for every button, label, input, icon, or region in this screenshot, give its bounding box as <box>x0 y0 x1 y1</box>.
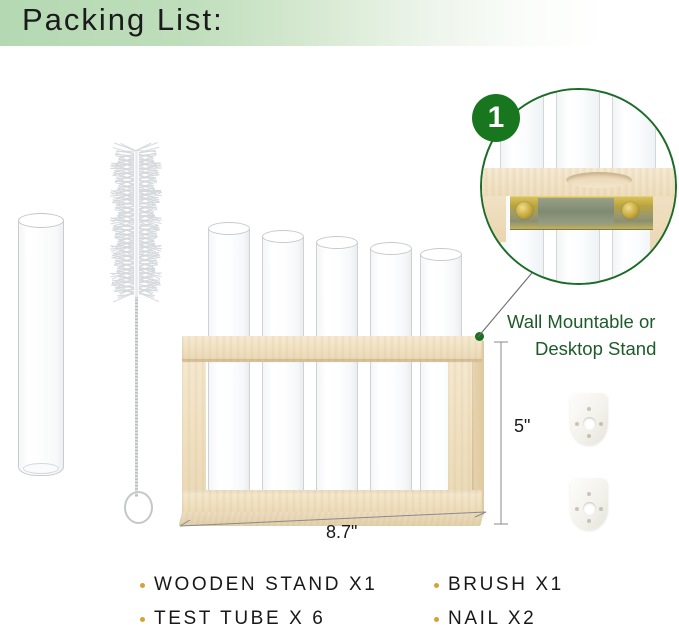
rack-tube-highlight <box>428 264 431 494</box>
mount-plate-notch <box>587 407 591 411</box>
mount-plate-notch <box>587 519 591 523</box>
rack-tube-highlight <box>378 258 381 494</box>
bullet-icon <box>140 583 145 588</box>
mount-plate-hole <box>583 502 596 515</box>
test-tube-base <box>23 463 59 474</box>
packing-list-infographic: Packing List: <box>0 0 679 642</box>
test-tube-body <box>18 219 64 476</box>
height-dimension-line <box>492 338 512 528</box>
list-item-label: WOODEN STAND X1 <box>154 574 377 596</box>
callout-wood-left <box>480 190 506 242</box>
mount-plate-notch <box>587 434 591 438</box>
rack-tube-rim <box>420 248 462 261</box>
list-item: NAIL X2 <box>434 608 536 630</box>
list-item-label: NAIL X2 <box>448 608 536 630</box>
rack-test-tube <box>316 242 358 509</box>
caption-line-1: Wall Mountable or <box>507 308 679 335</box>
page-title: Packing List: <box>22 2 224 38</box>
wall-mount-plate <box>570 478 608 530</box>
bullet-icon <box>434 617 439 622</box>
mount-plate-hole <box>583 417 596 430</box>
stand-top-rail-shadow <box>182 359 482 363</box>
mount-plate-notch <box>599 507 603 511</box>
rack-tube-highlight <box>216 238 219 494</box>
height-dimension-label: 5" <box>514 416 530 437</box>
stand-right-post <box>448 336 472 516</box>
callout-number-badge: 1 <box>472 94 520 142</box>
rack-tube-rim <box>208 222 250 235</box>
test-tube-rim <box>18 213 64 228</box>
list-item: BRUSH X1 <box>434 574 564 596</box>
rack-tube-highlight <box>270 246 273 494</box>
mount-plate-notch <box>587 492 591 496</box>
rack-test-tube <box>262 236 304 509</box>
rack-tube-rim <box>316 236 358 249</box>
wooden-stand-product-image <box>172 228 492 528</box>
stand-left-post <box>182 336 206 516</box>
list-item: WOODEN STAND X1 <box>140 574 377 596</box>
cleaning-brush-product-image <box>108 147 164 525</box>
brush-wire-handle <box>135 297 138 497</box>
mount-plate-notch <box>575 422 579 426</box>
rack-tube-rim <box>370 242 412 255</box>
width-dimension: 8.7" <box>178 508 496 542</box>
bullet-icon <box>434 583 439 588</box>
callout-screw-left <box>516 202 533 219</box>
list-item: TEST TUBE X 6 <box>140 608 325 630</box>
callout-wood-right <box>650 190 677 285</box>
detail-callout: 1 <box>480 88 673 281</box>
leader-anchor-dot <box>475 332 484 341</box>
list-item-label: TEST TUBE X 6 <box>154 608 325 630</box>
callout-bracket-center <box>538 198 614 225</box>
wall-mount-plate <box>570 393 608 445</box>
height-dimension: 5" <box>492 338 538 528</box>
rack-tube-highlight <box>324 252 327 494</box>
header-banner: Packing List: <box>0 0 679 46</box>
rack-tube-rim <box>262 230 304 243</box>
rack-test-tube <box>370 248 412 509</box>
brush-core <box>134 151 139 299</box>
callout-tube-hole <box>566 172 632 188</box>
bullet-icon <box>140 617 145 622</box>
test-tube-product-image <box>18 213 64 478</box>
rack-test-tube <box>208 228 250 509</box>
list-item-label: BRUSH X1 <box>448 574 564 596</box>
mount-plate-notch <box>575 507 579 511</box>
callout-screw-right <box>622 202 639 219</box>
packing-items-list: WOODEN STAND X1 TEST TUBE X 6 BRUSH X1 N… <box>0 572 679 642</box>
test-tube-highlight <box>26 229 30 465</box>
mount-plate-notch <box>599 422 603 426</box>
brush-loop-handle <box>124 491 153 524</box>
width-dimension-label: 8.7" <box>326 522 357 543</box>
